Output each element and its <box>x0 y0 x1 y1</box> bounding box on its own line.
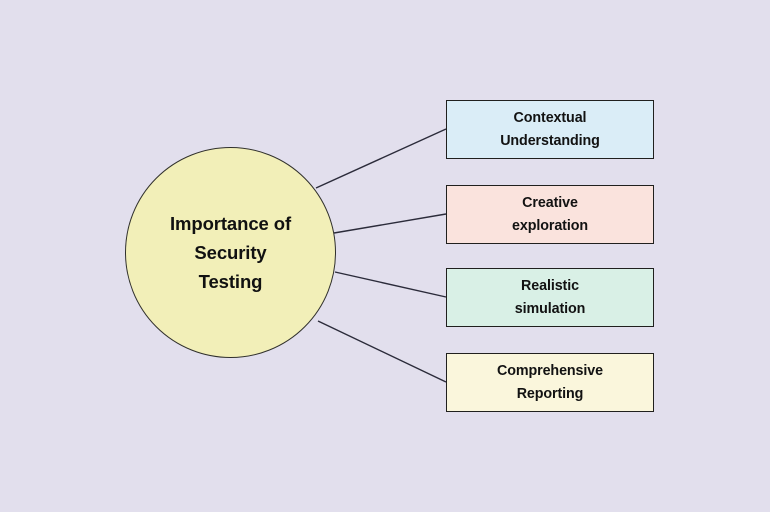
diagram-canvas: Importance of Security Testing Contextua… <box>0 0 770 512</box>
branch-node-realistic-simulation[interactable]: Realistic simulation <box>446 268 654 327</box>
branch-node-comprehensive-reporting[interactable]: Comprehensive Reporting <box>446 353 654 412</box>
connector-line-1 <box>334 214 446 233</box>
connector-layer <box>0 0 770 512</box>
branch-node-label: Realistic simulation <box>507 275 594 321</box>
branch-node-creative-exploration[interactable]: Creative exploration <box>446 185 654 244</box>
central-node[interactable]: Importance of Security Testing <box>125 147 336 358</box>
connector-line-2 <box>335 272 446 297</box>
branch-node-label: Creative exploration <box>504 192 596 238</box>
branch-node-label: Comprehensive Reporting <box>489 360 611 406</box>
connector-line-0 <box>316 129 446 188</box>
connector-line-3 <box>318 321 446 382</box>
branch-node-contextual-understanding[interactable]: Contextual Understanding <box>446 100 654 159</box>
central-node-label: Importance of Security Testing <box>156 209 305 296</box>
branch-node-label: Contextual Understanding <box>492 107 608 153</box>
